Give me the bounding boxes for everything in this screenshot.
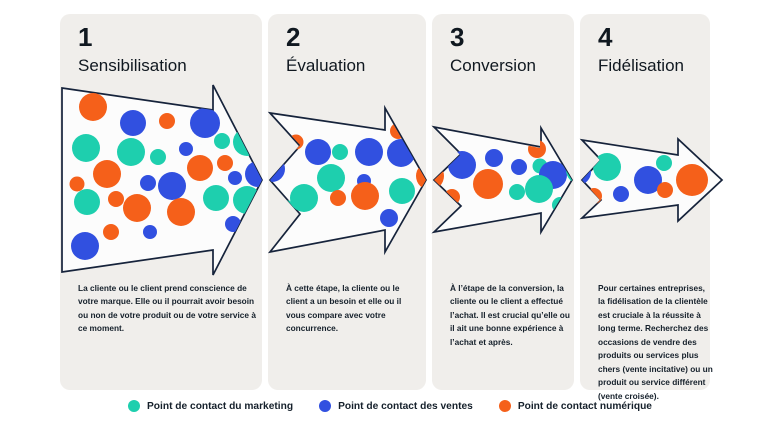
arrow-stage-1: [62, 85, 271, 275]
legend-dot-orange-icon: [499, 400, 511, 412]
legend-item-ventes: Point de contact des ventes: [319, 400, 473, 412]
arrow-stage-3: [416, 127, 596, 232]
legend-item-marketing: Point de contact du marketing: [128, 400, 293, 412]
legend-label-marketing: Point de contact du marketing: [147, 401, 293, 412]
legend-label-ventes: Point de contact des ventes: [338, 401, 473, 412]
funnel-infographic: 1 Sensibilisation La cliente ou le clien…: [0, 0, 780, 439]
legend-label-numerique: Point de contact numérique: [518, 401, 652, 412]
legend-dot-blue-icon: [319, 400, 331, 412]
legend-dot-teal-icon: [128, 400, 140, 412]
legend: Point de contact du marketing Point de c…: [0, 400, 780, 412]
arrow-stage-4: [565, 139, 722, 221]
legend-item-numerique: Point de contact numérique: [499, 400, 652, 412]
funnel-arrows: [0, 0, 780, 439]
arrow-stage-2: [255, 108, 444, 252]
